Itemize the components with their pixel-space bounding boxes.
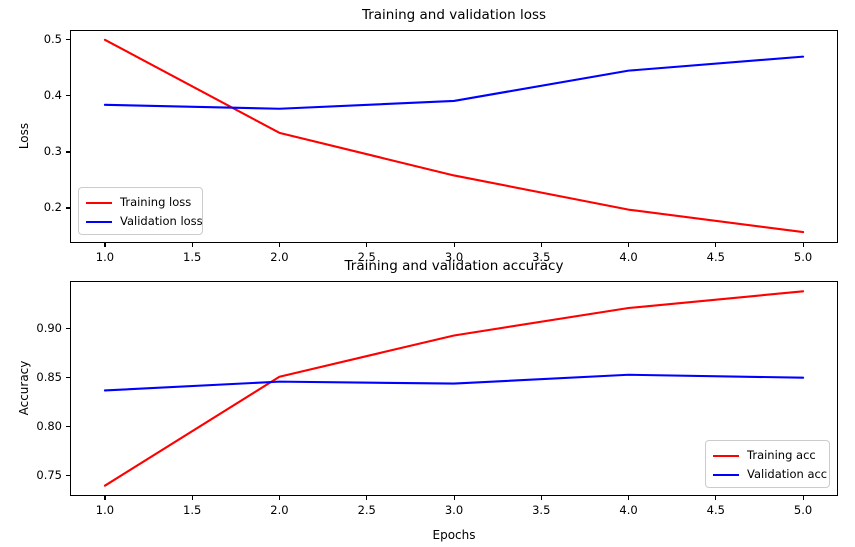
accuracy-legend: Training accValidation acc	[705, 440, 830, 488]
legend-line-swatch	[713, 455, 739, 457]
legend-label: Validation acc	[747, 469, 827, 481]
legend-label: Training acc	[747, 450, 816, 462]
matplotlib-figure: Training and validation loss Loss 0.20.3…	[0, 0, 855, 547]
legend-item[interactable]: Validation acc	[713, 465, 821, 484]
series-line	[105, 291, 803, 485]
series-line	[105, 375, 803, 391]
legend-item[interactable]: Training acc	[713, 446, 821, 465]
subplot-accuracy: Training and validation accuracy Accurac…	[0, 0, 855, 547]
legend-line-swatch	[713, 474, 739, 476]
